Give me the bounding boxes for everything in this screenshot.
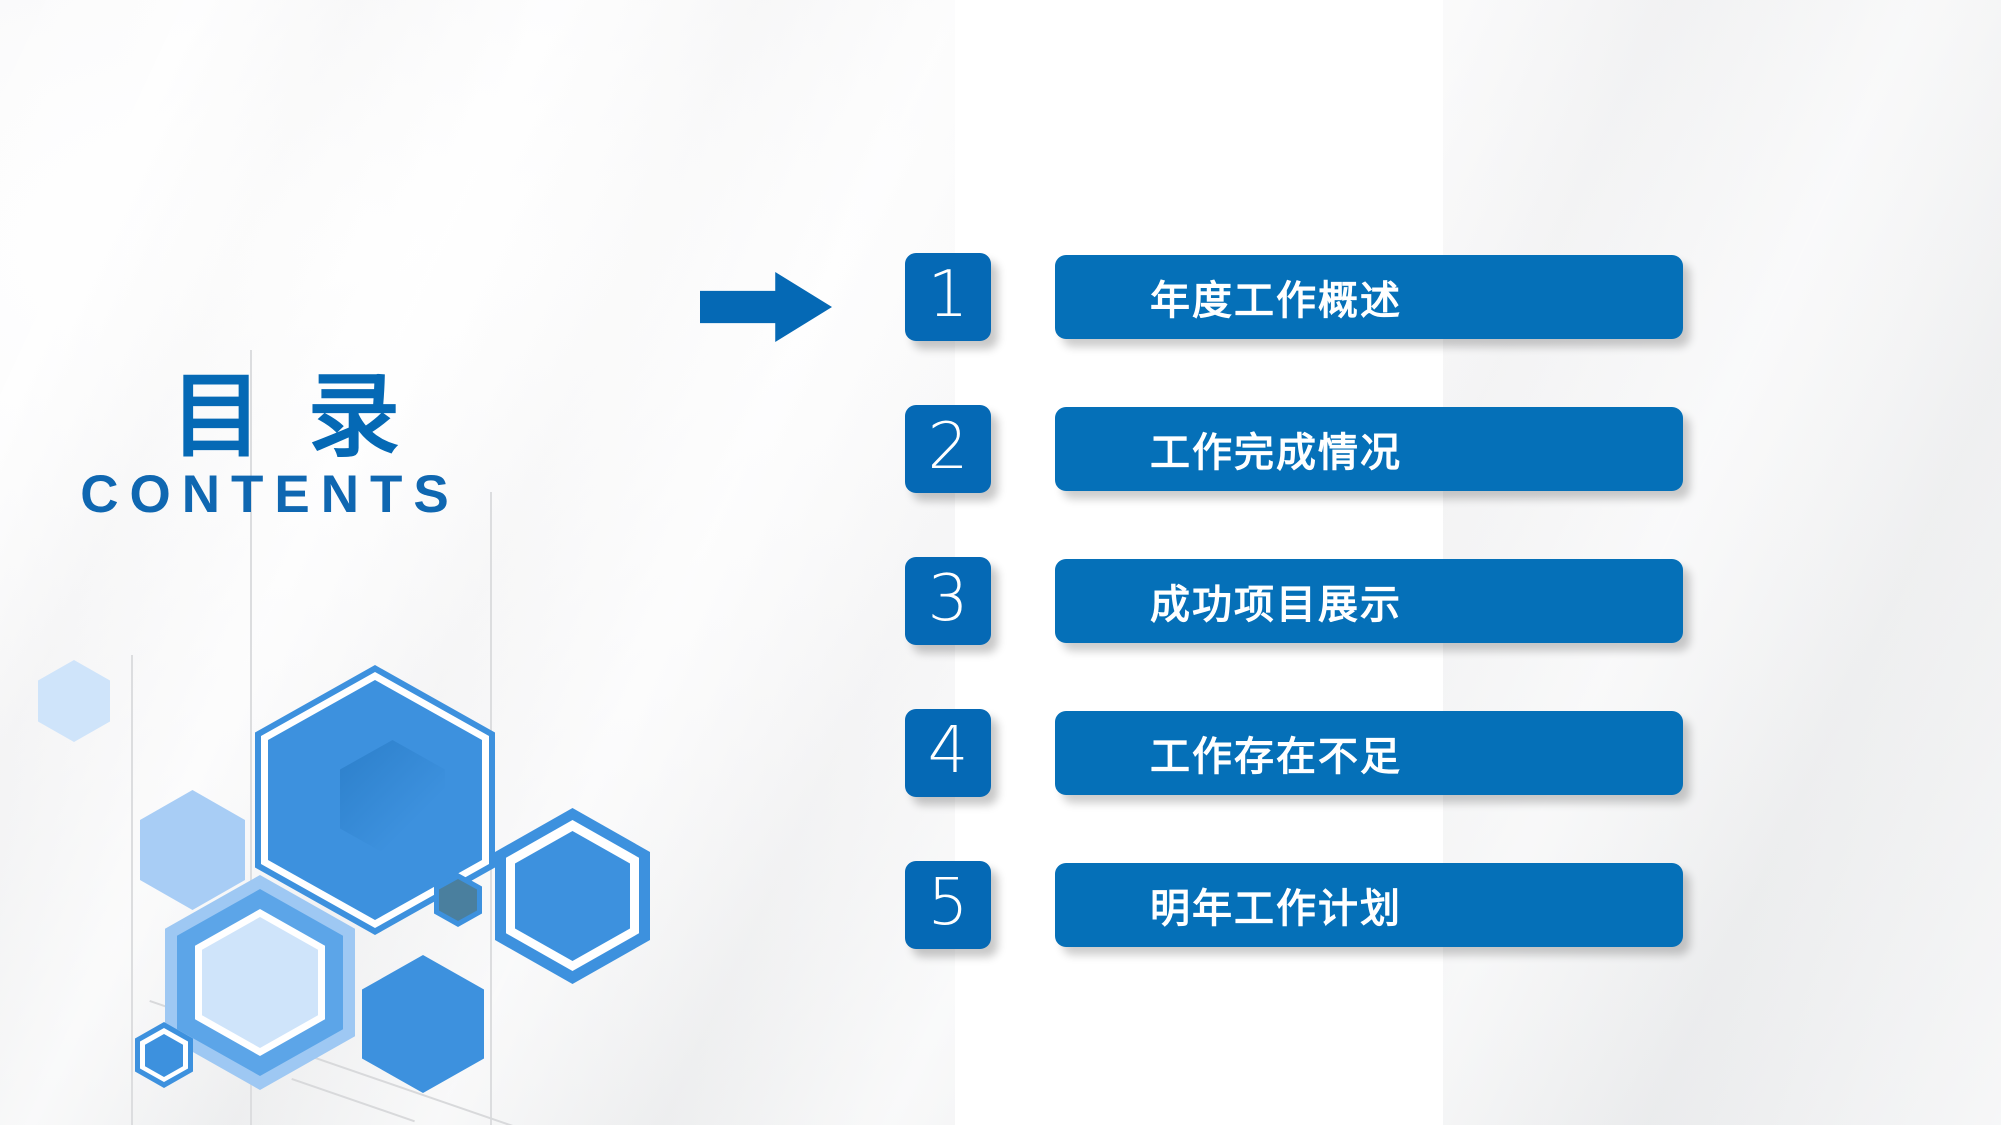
contents-item-bar[interactable]: 年度工作概述 bbox=[1055, 255, 1683, 339]
contents-item-bar[interactable]: 工作存在不足 bbox=[1055, 711, 1683, 795]
contents-number-label: 5 bbox=[928, 871, 969, 935]
contents-row[interactable]: 2 工作完成情况 bbox=[0, 405, 2001, 495]
contents-number-label: 2 bbox=[928, 415, 969, 479]
contents-number-label: 3 bbox=[928, 567, 969, 631]
contents-item-bar[interactable]: 明年工作计划 bbox=[1055, 863, 1683, 947]
contents-number-badge[interactable]: 4 bbox=[905, 709, 991, 797]
contents-number-badge[interactable]: 1 bbox=[905, 253, 991, 341]
contents-item-bar[interactable]: 成功项目展示 bbox=[1055, 559, 1683, 643]
contents-item-label: 工作完成情况 bbox=[1150, 420, 1402, 478]
contents-item-label: 工作存在不足 bbox=[1150, 724, 1402, 782]
contents-number-badge[interactable]: 5 bbox=[905, 861, 991, 949]
contents-row[interactable]: 3 成功项目展示 bbox=[0, 557, 2001, 647]
contents-row[interactable]: 4 工作存在不足 bbox=[0, 709, 2001, 799]
contents-item-label: 年度工作概述 bbox=[1150, 268, 1402, 326]
slide-canvas: 目 录 CONTENTS bbox=[0, 0, 2001, 1125]
contents-number-badge[interactable]: 3 bbox=[905, 557, 991, 645]
contents-number-label: 1 bbox=[928, 263, 969, 327]
hexagon-solid-mid bbox=[362, 955, 484, 1093]
contents-number-badge[interactable]: 2 bbox=[905, 405, 991, 493]
contents-number-label: 4 bbox=[928, 719, 969, 783]
contents-row[interactable]: 1 年度工作概述 bbox=[0, 253, 2001, 343]
contents-row[interactable]: 5 明年工作计划 bbox=[0, 861, 2001, 951]
contents-item-bar[interactable]: 工作完成情况 bbox=[1055, 407, 1683, 491]
hexagon-tiny-outlined bbox=[135, 1022, 193, 1088]
contents-item-label: 成功项目展示 bbox=[1150, 572, 1402, 630]
contents-item-label: 明年工作计划 bbox=[1150, 876, 1402, 934]
